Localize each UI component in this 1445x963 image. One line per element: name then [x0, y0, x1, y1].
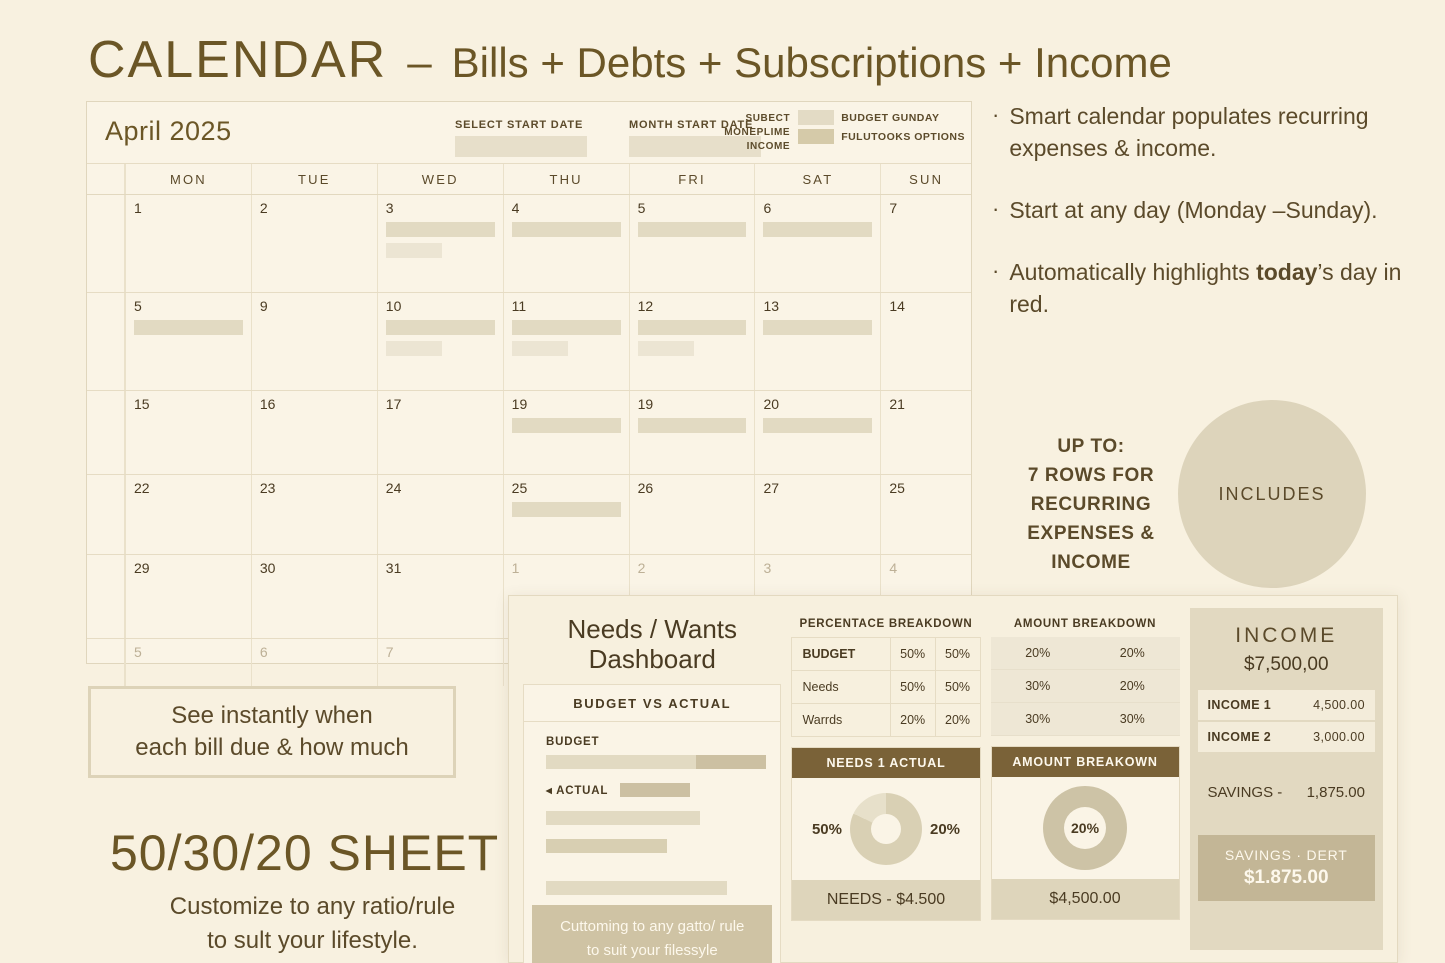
donut-chart-icon: [850, 793, 922, 865]
budget-vs-actual-body: BUDGET ◂ ACTUAL: [524, 722, 780, 895]
day-number: 5: [134, 299, 243, 314]
calendar-day-cell[interactable]: 20: [754, 391, 880, 474]
needs-left-pct: 50%: [812, 821, 842, 838]
day-event-bars: [512, 222, 621, 237]
calendar-day-cell[interactable]: 16: [251, 391, 377, 474]
cell-value: 50%: [935, 671, 980, 704]
calendar-day-cell[interactable]: 30: [251, 555, 377, 638]
day-event-bar[interactable]: [638, 341, 695, 356]
page-title-main: CALENDAR: [88, 30, 387, 90]
calendar-day-cell[interactable]: 14: [880, 293, 971, 390]
day-event-bar[interactable]: [763, 418, 872, 433]
table-row: 30% 20%: [991, 670, 1180, 703]
day-number: 26: [638, 481, 747, 496]
calendar-day-cell[interactable]: 5: [629, 195, 755, 292]
bullet-dot-icon: ·: [992, 100, 999, 164]
day-event-bar[interactable]: [763, 320, 872, 335]
calendar-day-cell[interactable]: 4: [503, 195, 629, 292]
calendar-day-cell[interactable]: 10: [377, 293, 503, 390]
cell-value: 30%: [991, 670, 1086, 703]
cell-label: Warrds: [792, 704, 890, 737]
percentage-breakdown-column: PERCENTACE BREAKDOWN BUDGET 50% 50% Need…: [791, 608, 980, 950]
day-number: 25: [889, 481, 963, 496]
day-number: 13: [763, 299, 872, 314]
calendar-day-cell[interactable]: 26: [629, 475, 755, 554]
cell-value: 50%: [890, 671, 935, 704]
sheet-title: 50/30/20 SHEET: [110, 824, 499, 882]
select-start-date-input[interactable]: [455, 136, 587, 157]
calendar-day-cell[interactable]: 1: [125, 195, 251, 292]
table-row: Warrds 20% 20%: [792, 704, 980, 737]
day-number: 11: [512, 299, 621, 314]
legend-swatch-icon: [798, 110, 834, 125]
income-row-value: 3,000.00: [1313, 730, 1365, 744]
calendar-month-label: April 2025: [105, 116, 232, 147]
legend-row: FULUTOOKS OPTIONS: [798, 129, 965, 144]
calendar-day-cell[interactable]: 27: [754, 475, 880, 554]
legend-label-2: INCOME: [724, 140, 790, 154]
bullet-dot-icon: ·: [992, 256, 999, 320]
day-number: 1: [134, 201, 243, 216]
day-event-bar[interactable]: [134, 320, 243, 335]
budget-bar-fill: [696, 755, 767, 769]
series-bar-3: [546, 881, 727, 895]
calendar-day-cell[interactable]: 22: [125, 475, 251, 554]
savings-badge-label: SAVINGS · DERT: [1204, 847, 1369, 863]
calendar-day-cell[interactable]: 15: [125, 391, 251, 474]
budget-vs-actual-heading: BUDGET VS ACTUAL: [524, 685, 780, 722]
day-event-bar[interactable]: [386, 222, 495, 237]
income-panel: INCOME $7,500,00 INCOME 1 4,500.00 INCOM…: [1190, 608, 1383, 950]
day-event-bar[interactable]: [512, 320, 621, 335]
day-number: 21: [889, 397, 963, 412]
legend-label-1: MONEPLIME: [724, 126, 790, 140]
table-row: Needs 50% 50%: [792, 671, 980, 704]
day-event-bars: [512, 502, 621, 517]
series-bar-2: [546, 839, 667, 853]
calendar-day-cell[interactable]: 19: [503, 391, 629, 474]
dow-sun: SUN: [880, 164, 971, 194]
calendar-day-cell[interactable]: 17: [377, 391, 503, 474]
calendar-day-cell[interactable]: 5: [125, 639, 251, 686]
day-event-bar[interactable]: [638, 320, 747, 335]
day-number: 31: [386, 561, 495, 576]
cell-value: 20%: [890, 704, 935, 737]
day-number: 3: [386, 201, 495, 216]
day-event-bars: [386, 320, 495, 356]
dow-mon: MON: [125, 164, 251, 194]
day-number: 30: [260, 561, 369, 576]
calendar-day-cell[interactable]: 3: [377, 195, 503, 292]
day-number: 5: [134, 645, 243, 660]
calendar-day-cell[interactable]: 25: [880, 475, 971, 554]
dow-gutter: [87, 164, 125, 194]
savings-label: SAVINGS -: [1208, 784, 1283, 801]
needs-actual-panel: NEEDS 1 ACTUAL 50% 20% NEEDS - $4.500: [791, 747, 980, 921]
percentage-breakdown-table: BUDGET 50% 50% Needs 50% 50% Warrds 20% …: [791, 637, 980, 737]
day-event-bars: [763, 222, 872, 237]
calendar-day-cell[interactable]: 6: [251, 639, 377, 686]
budget-label: BUDGET: [546, 736, 766, 748]
calendar-day-cell[interactable]: 21: [880, 391, 971, 474]
bullet-text: Start at any day (Monday –Sunday).: [1009, 194, 1377, 226]
legend-text: BUDGET GUNDAY: [841, 112, 939, 124]
bullet-text: Automatically highlights today’s day in …: [1009, 256, 1412, 320]
calendar-day-cell[interactable]: 7: [377, 639, 503, 686]
day-number: 1: [512, 561, 621, 576]
day-number: 12: [638, 299, 747, 314]
feature-bullets: · Smart calendar populates recurring exp…: [992, 100, 1412, 350]
bullet-text: Smart calendar populates recurring expen…: [1009, 100, 1412, 164]
cell-value: 30%: [991, 703, 1086, 736]
savings-value: 1,875.00: [1307, 784, 1365, 801]
week-gutter: [87, 195, 125, 292]
list-item: · Smart calendar populates recurring exp…: [992, 100, 1412, 164]
amount-breakdown-column: AMOUNT BREAKDOWN 20% 20% 30% 20% 30% 30%: [991, 608, 1180, 950]
day-event-bars: [763, 418, 872, 433]
day-event-bar[interactable]: [512, 502, 621, 517]
list-item: · Start at any day (Monday –Sunday).: [992, 194, 1412, 226]
day-number: 27: [763, 481, 872, 496]
list-item: · Automatically highlights today’s day i…: [992, 256, 1412, 320]
percentage-breakdown-caption: PERCENTACE BREAKDOWN: [791, 608, 980, 637]
savings-debt-badge: SAVINGS · DERT $1.875.00: [1198, 835, 1375, 901]
calendar-day-cell[interactable]: 6: [754, 195, 880, 292]
cell-value: 20%: [991, 637, 1086, 670]
calendar-week-row: 15161719192021: [87, 391, 971, 475]
income-row-value: 4,500.00: [1313, 698, 1365, 712]
table-row: 30% 30%: [991, 703, 1180, 736]
day-number: 4: [512, 201, 621, 216]
day-event-bar[interactable]: [512, 222, 621, 237]
calendar-day-cell[interactable]: 7: [880, 195, 971, 292]
calendar-week-row: 22232425262725: [87, 475, 971, 555]
dashboard-left-column: Needs / WantsDashboard BUDGET VS ACTUAL …: [523, 608, 781, 950]
legend-row: BUDGET GUNDAY: [798, 110, 965, 125]
income-title: INCOME: [1198, 618, 1375, 648]
legend-left-labels: SUBECT MONEPLIME INCOME: [724, 110, 790, 154]
page-title: CALENDAR – Bills + Debts + Subscriptions…: [88, 30, 1172, 90]
calendar-day-cell[interactable]: 9: [251, 293, 377, 390]
day-number: 22: [134, 481, 243, 496]
needs-actual-footer: NEEDS - $4.500: [792, 880, 979, 920]
day-event-bars: [638, 320, 747, 356]
day-event-bars: [638, 222, 747, 237]
day-number: 7: [386, 645, 495, 660]
week-gutter: [87, 475, 125, 554]
day-number: 6: [763, 201, 872, 216]
calendar-day-cell[interactable]: 19: [629, 391, 755, 474]
calendar-day-cell[interactable]: 12: [629, 293, 755, 390]
calendar-day-cell[interactable]: 2: [251, 195, 377, 292]
day-number: 29: [134, 561, 243, 576]
legend-label-0: SUBECT: [724, 112, 790, 126]
series-bar-1: [546, 811, 700, 825]
actual-bar: [620, 783, 690, 797]
calendar-legend: SUBECT MONEPLIME INCOME BUDGET GUNDAY FU…: [724, 110, 965, 154]
savings-row: SAVINGS - 1,875.00: [1198, 754, 1375, 831]
bill-due-callout: See instantly wheneach bill due & how mu…: [88, 686, 456, 778]
calendar-card: April 2025 SELECT START DATE MONTH START…: [86, 101, 972, 664]
day-event-bar[interactable]: [512, 418, 621, 433]
week-gutter: [87, 639, 125, 686]
day-event-bar[interactable]: [763, 222, 872, 237]
day-event-bar[interactable]: [638, 222, 747, 237]
day-number: 24: [386, 481, 495, 496]
calendar-week-row: 591011121314: [87, 293, 971, 391]
amount-center-pct: 20%: [992, 777, 1179, 879]
bill-due-callout-text: See instantly wheneach bill due & how mu…: [135, 700, 409, 764]
includes-badge: INCLUDES: [1178, 400, 1366, 588]
day-event-bar[interactable]: [638, 418, 747, 433]
day-number: 25: [512, 481, 621, 496]
day-number: 2: [638, 561, 747, 576]
select-start-date-field[interactable]: SELECT START DATE: [455, 119, 587, 157]
day-event-bar[interactable]: [386, 341, 443, 356]
calendar-day-cell[interactable]: 24: [377, 475, 503, 554]
cell-value: 50%: [935, 638, 980, 671]
cell-label: BUDGET: [792, 638, 890, 671]
day-number: 15: [134, 397, 243, 412]
day-event-bar[interactable]: [512, 341, 569, 356]
page-title-dash: –: [401, 38, 437, 88]
day-number: 7: [889, 201, 963, 216]
dow-tue: TUE: [251, 164, 377, 194]
day-event-bars: [638, 418, 747, 433]
day-event-bar[interactable]: [386, 243, 443, 258]
needs-right-pct: 20%: [930, 821, 960, 838]
day-number: 5: [638, 201, 747, 216]
cell-value: 20%: [935, 704, 980, 737]
day-number: 16: [260, 397, 369, 412]
day-number: 23: [260, 481, 369, 496]
needs-actual-heading: NEEDS 1 ACTUAL: [792, 748, 979, 778]
week-gutter: [87, 391, 125, 474]
calendar-day-cell[interactable]: 29: [125, 555, 251, 638]
day-number: 17: [386, 397, 495, 412]
income-row-label: INCOME 2: [1208, 730, 1272, 744]
calendar-day-cell[interactable]: 31: [377, 555, 503, 638]
amount-breakdown-chart: 20%: [992, 777, 1179, 879]
calendar-day-cell[interactable]: 5: [125, 293, 251, 390]
day-number: 10: [386, 299, 495, 314]
day-number: 6: [260, 645, 369, 660]
day-number: 19: [512, 397, 621, 412]
select-start-date-label: SELECT START DATE: [455, 119, 587, 131]
day-event-bars: [512, 418, 621, 433]
day-event-bars: [763, 320, 872, 335]
calendar-day-cell[interactable]: 23: [251, 475, 377, 554]
dow-fri: FRI: [629, 164, 755, 194]
day-event-bars: [134, 320, 243, 335]
needs-wants-dashboard: Needs / WantsDashboard BUDGET VS ACTUAL …: [508, 595, 1398, 963]
budget-vs-actual-panel: BUDGET VS ACTUAL BUDGET ◂ ACTUAL Cut: [523, 684, 781, 963]
day-number: 2: [260, 201, 369, 216]
dow-thu: THU: [503, 164, 629, 194]
legend-swatch-icon: [798, 129, 834, 144]
calendar-day-cell[interactable]: 11: [503, 293, 629, 390]
income-row: INCOME 2 3,000.00: [1198, 722, 1375, 752]
budget-vs-actual-footer: Cuttoming to any ɡatto/ ruleto suit your…: [532, 905, 772, 963]
legend-entries: BUDGET GUNDAY FULUTOOKS OPTIONS: [798, 110, 965, 154]
amount-breakdown-caption: AMOUNT BREAKDOWN: [991, 608, 1180, 637]
day-event-bars: [512, 320, 621, 356]
calendar-day-cell[interactable]: 13: [754, 293, 880, 390]
calendar-day-cell[interactable]: 25: [503, 475, 629, 554]
amount-breakdown-footer: $4,500.00: [992, 879, 1179, 919]
dow-wed: WED: [377, 164, 503, 194]
cell-value: 20%: [1085, 637, 1180, 670]
amount-breakdown-table: 20% 20% 30% 20% 30% 30%: [991, 637, 1180, 736]
day-number: 19: [638, 397, 747, 412]
actual-label: ◂ ACTUAL: [546, 783, 608, 797]
table-row: 20% 20%: [991, 637, 1180, 670]
up-to-callout: UP TO:7 ROWS FOR RECURRING EXPENSES & IN…: [1002, 432, 1180, 577]
dow-sat: SAT: [754, 164, 880, 194]
calendar-header: April 2025 SELECT START DATE MONTH START…: [87, 102, 971, 164]
actual-row: ◂ ACTUAL: [546, 783, 766, 797]
savings-badge-value: $1.875.00: [1204, 867, 1369, 889]
week-gutter: [87, 555, 125, 638]
day-event-bar[interactable]: [386, 320, 495, 335]
amount-breakdown-panel: AMOUNT BREAKOWN 20% $4,500.00: [991, 746, 1180, 920]
bullet-dot-icon: ·: [992, 194, 999, 226]
week-gutter: [87, 293, 125, 390]
includes-label: INCLUDES: [1218, 484, 1325, 505]
cell-value: 50%: [890, 638, 935, 671]
legend-text: FULUTOOKS OPTIONS: [841, 131, 965, 143]
income-row: INCOME 1 4,500.00: [1198, 690, 1375, 720]
day-event-bars: [386, 222, 495, 258]
calendar-week-row: 1234567: [87, 195, 971, 293]
calendar-dow-header: MON TUE WED THU FRI SAT SUN: [87, 164, 971, 195]
cell-value: 20%: [1085, 670, 1180, 703]
income-total: $7,500,00: [1198, 648, 1375, 690]
amount-breakdown-heading: AMOUNT BREAKOWN: [992, 747, 1179, 777]
sheet-subtitle: Customize to any ratio/ruleto sult your …: [125, 890, 500, 958]
day-number: 3: [763, 561, 872, 576]
day-number: 14: [889, 299, 963, 314]
cell-value: 30%: [1085, 703, 1180, 736]
dashboard-title: Needs / WantsDashboard: [523, 608, 781, 684]
page-title-sub: Bills + Debts + Subscriptions + Income: [452, 39, 1172, 87]
needs-actual-chart: 50% 20%: [792, 778, 979, 880]
day-number: 4: [889, 561, 963, 576]
table-row: BUDGET 50% 50%: [792, 638, 980, 671]
day-number: 20: [763, 397, 872, 412]
cell-label: Needs: [792, 671, 890, 704]
day-number: 9: [260, 299, 369, 314]
income-row-label: INCOME 1: [1208, 698, 1272, 712]
